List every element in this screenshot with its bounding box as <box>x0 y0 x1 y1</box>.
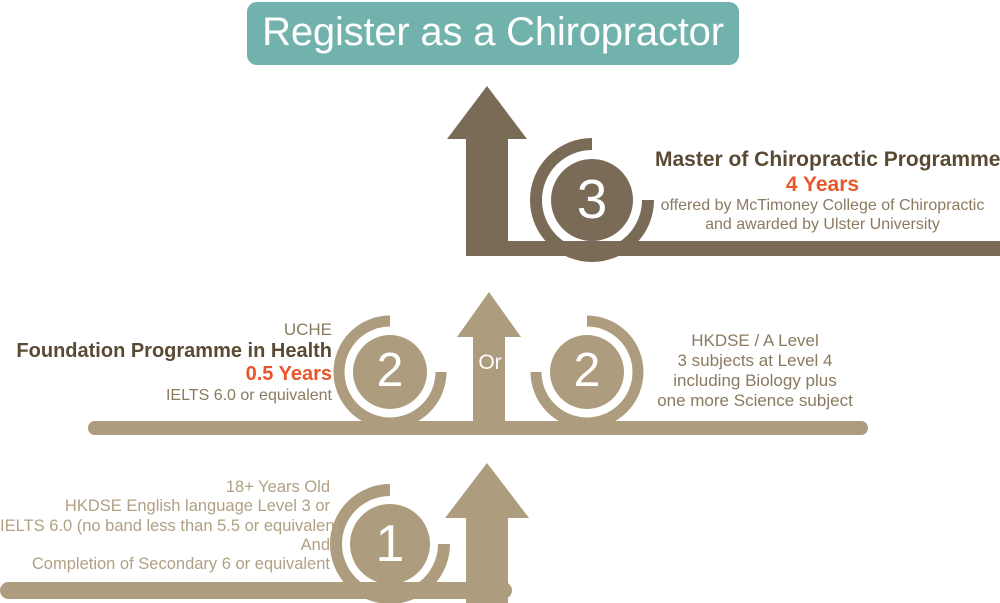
step-2-right-line-4: one more Science subject <box>655 391 855 411</box>
step-number-3: 3 <box>562 172 622 227</box>
step-1-line-1: 18+ Years Old <box>0 478 330 497</box>
step-2-left-line-1: UCHE <box>0 320 332 340</box>
page-title-banner: Register as a Chiropractor <box>247 2 739 65</box>
step-2-right-line-1: HKDSE / A Level <box>655 331 855 351</box>
step-3-line-4: and awarded by Ulster University <box>655 216 990 235</box>
step-3-text-block: Master of Chiropractic Programme 4 Years… <box>655 148 990 235</box>
up-arrow-level-3 <box>447 86 527 252</box>
step-2-right-text-block: HKDSE / A Level 3 subjects at Level 4 in… <box>655 331 855 411</box>
step-3-line-1: Master of Chiropractic Programme <box>655 148 990 173</box>
step-2-right-line-3: including Biology plus <box>655 371 855 391</box>
step-2-left-line-2: Foundation Programme in Health <box>0 340 332 363</box>
step-1-line-5: Completion of Secondary 6 or equivalent <box>0 555 330 574</box>
page-title: Register as a Chiropractor <box>262 12 724 56</box>
track-bar-level-1 <box>0 582 512 599</box>
or-divider-label: Or <box>470 352 510 373</box>
step-number-2-right: 2 <box>557 347 617 395</box>
step-2-right-line-2: 3 subjects at Level 4 <box>655 351 855 371</box>
step-2-left-line-3: 0.5 Years <box>0 363 332 386</box>
step-3-line-3: offered by McTimoney College of Chiropra… <box>655 197 990 216</box>
step-1-text-block: 18+ Years Old HKDSE English language Lev… <box>0 478 330 574</box>
step-1-line-2: HKDSE English language Level 3 or <box>0 497 330 516</box>
infographic-canvas: Register as a Chiropractor 1 2 2 3 Or 18… <box>0 0 1000 603</box>
step-2-left-line-4: IELTS 6.0 or equivalent <box>0 387 332 406</box>
step-number-1: 1 <box>360 518 420 570</box>
step-1-line-4: And <box>0 536 330 555</box>
step-number-2-left: 2 <box>360 347 420 395</box>
step-1-line-3: IELTS 6.0 (no band less than 5.5 or equi… <box>0 517 330 536</box>
step-2-left-text-block: UCHE Foundation Programme in Health 0.5 … <box>0 320 332 405</box>
track-bar-level-3 <box>466 241 1000 256</box>
step-3-line-2: 4 Years <box>655 173 990 198</box>
